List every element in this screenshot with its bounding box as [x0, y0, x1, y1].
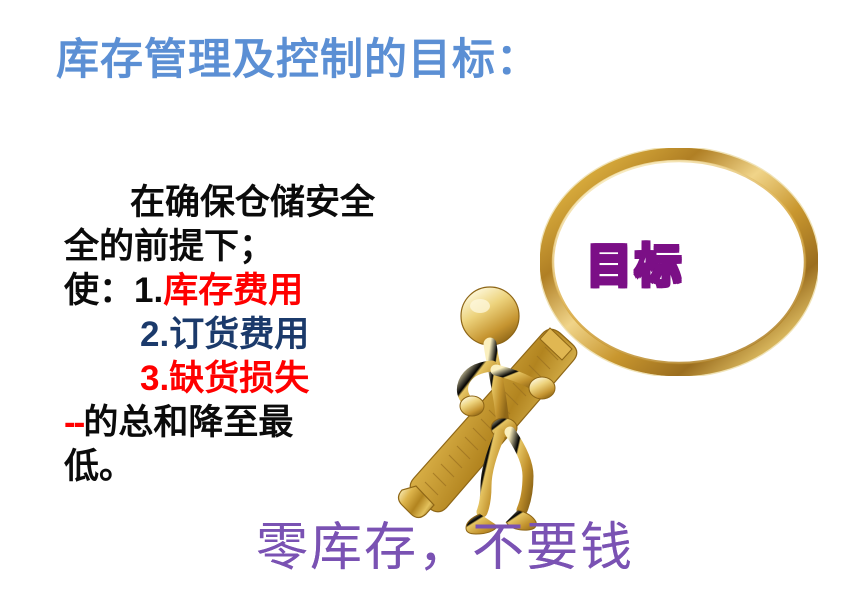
magnifier-handle: [399, 328, 577, 518]
figure-right-hand: [529, 377, 555, 399]
cost-item-inventory: 库存费用: [163, 271, 303, 310]
figure-head: [461, 287, 519, 345]
figure-left-arm: [462, 366, 492, 404]
page-title: 库存管理及控制的目标：: [56, 36, 540, 84]
figure-right-leg: [510, 432, 528, 510]
figure-left-leg: [482, 434, 500, 512]
cost-item-ordering: 订货费用: [169, 315, 309, 354]
body-line-4: 2.订货费用: [64, 313, 384, 357]
body-line-6: --的总和降至最: [64, 401, 384, 445]
cost-item-3-number: 3.: [140, 359, 169, 398]
body-line-1-text: 在确保仓储安全: [130, 183, 375, 222]
cost-item-stockout: 缺货损失: [169, 359, 309, 398]
body-line-6-text: 的总和降至最: [83, 403, 293, 442]
body-text-block: 在确保仓储安全 全的前提下； 使：1.库存费用 2.订货费用 3.缺货损失 --…: [64, 181, 384, 489]
magnifier-graphic: 目标: [534, 142, 834, 392]
magnifier-lens-label: 目标: [586, 230, 684, 296]
magnifier-lens-icon: [540, 148, 818, 376]
body-line-3-prefix: 使：1.: [64, 271, 163, 310]
cost-item-2-number: 2.: [140, 315, 169, 354]
figure-left-hand: [460, 396, 484, 416]
body-line-2-text: 全的前提下；: [64, 227, 274, 266]
body-line-7: 低。: [64, 445, 384, 489]
body-line-1: 在确保仓储安全: [64, 181, 384, 225]
body-line-7-text: 低。: [64, 447, 134, 486]
body-line-5: 3.缺货损失: [64, 357, 384, 401]
tagline-text: 零库存，不要钱: [256, 522, 634, 577]
body-line-2: 全的前提下；: [64, 225, 384, 269]
slide-canvas: 库存管理及控制的目标： 在确保仓储安全 全的前提下； 使：1.库存费用 2.订货…: [0, 0, 843, 605]
stick-figure-icon: [392, 282, 622, 540]
figure-torso: [490, 344, 503, 426]
body-line-3: 使：1.库存费用: [64, 269, 384, 313]
red-dash-marker: --: [64, 403, 83, 442]
figure-right-arm: [496, 370, 536, 386]
